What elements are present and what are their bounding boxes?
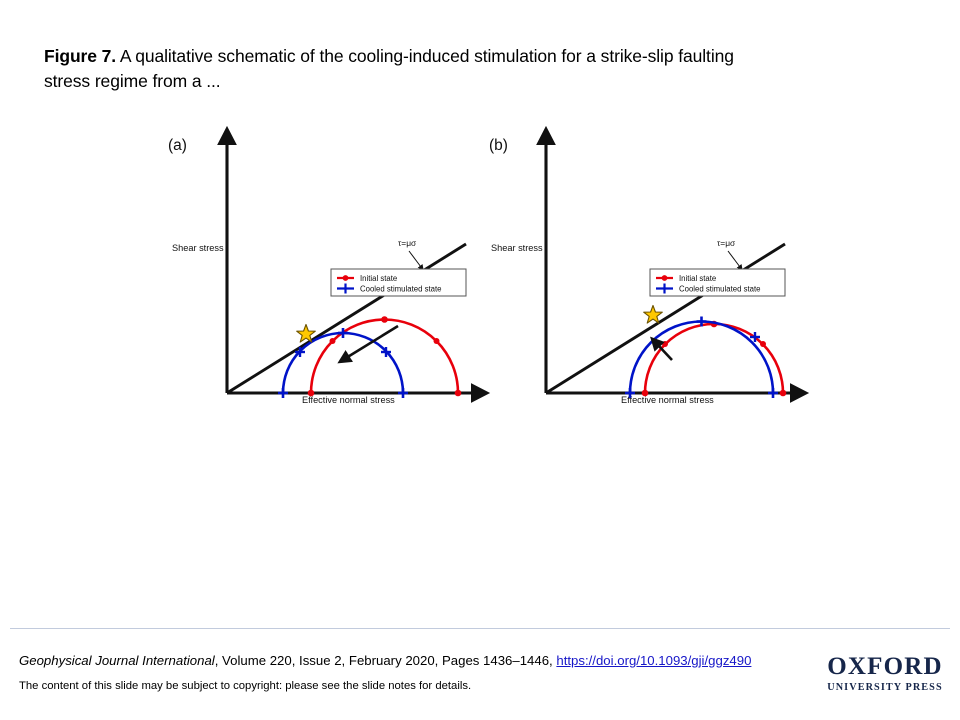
panel-b: (b) Shear stress Effective normal stress… <box>489 137 793 405</box>
footer-divider <box>10 628 950 629</box>
panel-a-y-axis-label: Shear stress <box>172 243 224 253</box>
panel-b-initial-sigma-min-marker <box>642 390 649 397</box>
oxford-university-press-logo: OXFORD UNIVERSITY PRESS <box>824 654 946 695</box>
panel-b-initial-marker-left <box>662 341 668 347</box>
figure-number: Figure 7. <box>44 46 116 66</box>
panel-a-envelope-annotation: τ=μσ <box>398 238 417 248</box>
panel-a-label: (a) <box>168 137 187 154</box>
panel-a-initial-sigma-max-marker <box>455 390 462 397</box>
panel-a-cooled-sigma-min-marker <box>278 388 288 398</box>
panel-b-label: (b) <box>489 137 508 154</box>
panel-a-annotation-pointer <box>409 251 421 267</box>
panel-b-legend-label-initial: Initial state <box>679 274 716 283</box>
panel-b-cooled-sigma-max-marker <box>768 388 778 398</box>
panel-a-initial-marker-left <box>330 338 336 344</box>
panel-b-failure-envelope <box>546 244 785 393</box>
panel-b-cooled-state-circle <box>630 322 773 394</box>
copyright-notice: The content of this slide may be subject… <box>19 679 719 694</box>
panel-a-legend-marker-initial <box>343 275 349 281</box>
panel-a-initial-sigma-min-marker <box>308 390 315 397</box>
mohr-circle-figure: (a) Shear stress Effective normal stress… <box>0 120 960 420</box>
citation-details: , Volume 220, Issue 2, February 2020, Pa… <box>215 653 557 668</box>
panel-b-initial-sigma-max-marker <box>780 390 787 397</box>
panel-a-legend-label-cooled: Cooled stimulated state <box>360 285 441 294</box>
panel-b-x-axis-label: Effective normal stress <box>621 395 714 405</box>
panel-b-legend-label-cooled: Cooled stimulated state <box>679 285 760 294</box>
citation: Geophysical Journal International, Volum… <box>19 652 799 669</box>
panel-b-initial-state-circle <box>645 324 783 393</box>
logo-university-press-text: UNIVERSITY PRESS <box>824 681 946 695</box>
panel-a-legend: Initial state Cooled stimulated state <box>331 269 466 296</box>
panel-b-initial-marker-right <box>760 341 766 347</box>
figure-caption: A qualitative schematic of the cooling-i… <box>44 46 734 91</box>
panel-b-envelope-annotation: τ=μσ <box>717 238 736 248</box>
doi-link[interactable]: https://doi.org/10.1093/gji/ggz490 <box>556 653 751 668</box>
panel-b-y-axis-label: Shear stress <box>491 243 543 253</box>
page-title: Figure 7. A qualitative schematic of the… <box>44 44 764 94</box>
panel-a: (a) Shear stress Effective normal stress… <box>168 137 474 405</box>
panel-a-initial-marker-right <box>434 338 440 344</box>
panel-a-initial-state-circle <box>311 320 458 394</box>
panel-a-initial-apex-marker <box>381 316 388 323</box>
logo-oxford-text: OXFORD <box>824 654 946 680</box>
panel-b-failure-point-star <box>644 306 663 324</box>
panel-a-x-axis-label: Effective normal stress <box>302 395 395 405</box>
panel-a-stress-path-arrow <box>346 326 398 358</box>
journal-name: Geophysical Journal International <box>19 653 215 668</box>
figure-container: (a) Shear stress Effective normal stress… <box>0 120 960 420</box>
panel-b-legend: Initial state Cooled stimulated state <box>650 269 785 296</box>
panel-a-cooled-sigma-max-marker <box>398 388 408 398</box>
panel-a-legend-label-initial: Initial state <box>360 274 397 283</box>
panel-b-legend-marker-initial <box>662 275 668 281</box>
panel-a-failure-envelope <box>227 244 466 393</box>
panel-b-annotation-pointer <box>728 251 740 267</box>
